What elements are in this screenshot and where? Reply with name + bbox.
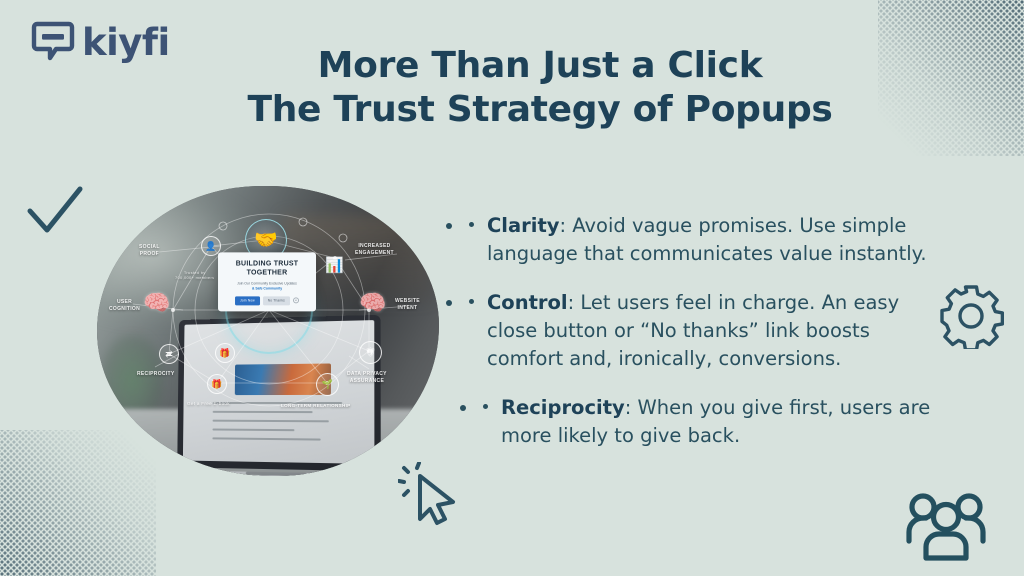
list-item-separator: : [568,291,581,314]
bullet-dot-icon [483,404,488,409]
slide-canvas: kiyfi More Than Just a Click The Trust S… [0,0,1024,576]
hero-image: BUILDING TRUST TOGETHER Join Our Communi… [97,186,439,476]
trust-popup-title-line-1: BUILDING TRUST [236,260,299,267]
plant-blur [100,334,164,412]
page-text-lines [212,401,342,447]
trust-popup-subtitle-accent: & Safe Community [252,286,282,290]
trust-popup-title-line-2: TOGETHER [247,269,288,276]
trust-popup-subtitle-line-1: Join Our Community [237,281,268,285]
trust-popup-title: BUILDING TRUST TOGETHER [224,259,310,277]
page-hero-image [235,363,331,394]
trust-popup-secondary-button[interactable]: No Thanks [263,297,290,306]
users-group-icon [898,489,994,568]
bullet-dot-icon [469,299,474,304]
page-title: More Than Just a Click The Trust Strateg… [190,44,890,132]
list-item-term: Clarity [487,214,560,237]
key-points-list: Clarity: Avoid vague promises. Use simpl… [465,212,935,450]
mouse-cursor-click-icon [398,462,468,531]
trust-popup-actions: Join Now No Thanks × [224,297,310,306]
trust-popup-subtitle: Join Our Community Exclusive Updates & S… [224,281,310,291]
list-item: Control: Let users feel in charge. An ea… [465,289,935,372]
brand-logo[interactable]: kiyfi [31,21,170,63]
trust-popup: BUILDING TRUST TOGETHER Join Our Communi… [218,252,316,311]
headline-line-1: More Than Just a Click [190,44,890,88]
trust-popup-primary-button[interactable]: Join Now [235,297,260,306]
trust-popup-subtitle-line-2: Exclusive Updates [269,281,297,285]
halftone-pattern-top-right [878,0,1024,156]
headline-line-2: The Trust Strategy of Popups [190,88,890,132]
brand-name: kiyfi [82,24,170,61]
list-item-separator: : [625,396,638,419]
gear-icon [938,283,1004,354]
list-item-term: Control [487,291,568,314]
list-item-term: Reciprocity [501,396,625,419]
trust-popup-close-icon[interactable]: × [293,298,299,304]
speech-bubble-icon [31,21,75,63]
list-item: Clarity: Avoid vague promises. Use simpl… [465,212,935,267]
list-item-separator: : [560,214,573,237]
list-item: Reciprocity: When you give first, users … [479,394,935,449]
check-icon [25,182,85,244]
bullet-dot-icon [469,222,474,227]
